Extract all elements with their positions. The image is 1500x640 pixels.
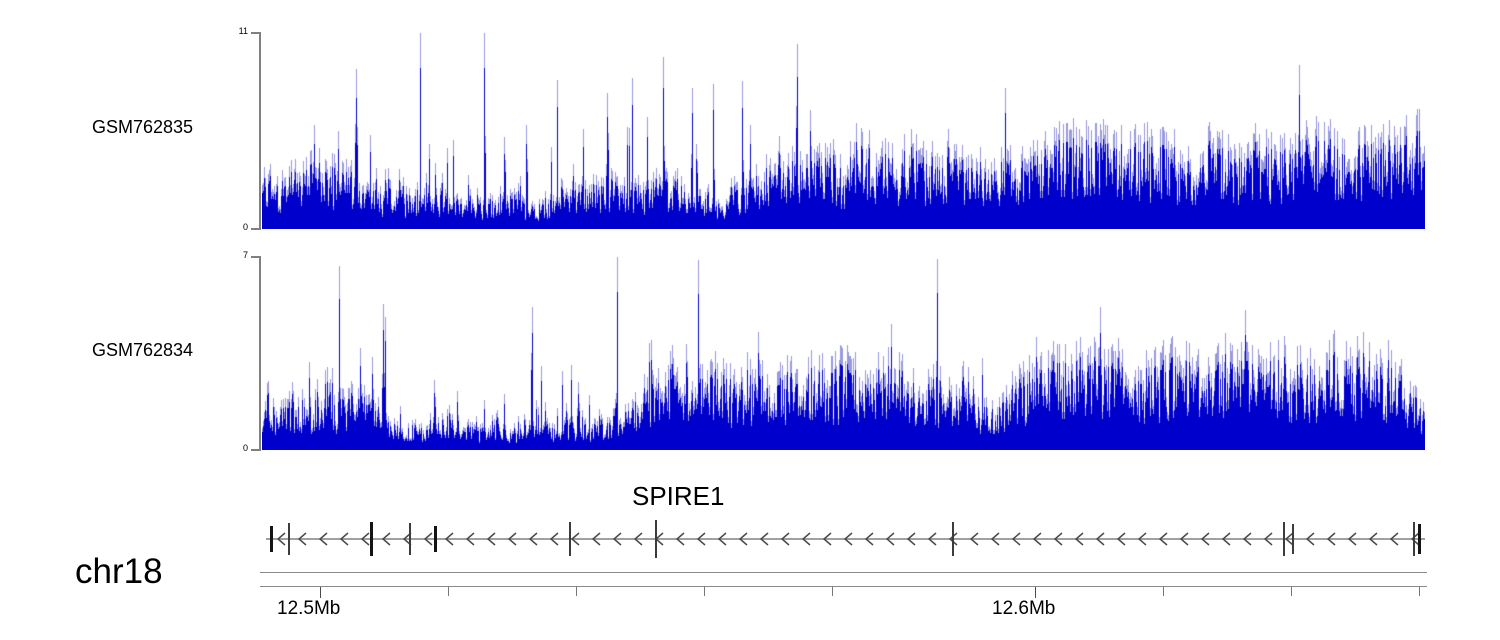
track-axis-tick-top-0 <box>251 32 260 34</box>
ruler-top-line <box>260 572 1427 573</box>
track-axis-line-1 <box>259 256 261 451</box>
gene-exon-bar[interactable] <box>1418 524 1421 554</box>
ruler-baseline <box>260 586 1427 587</box>
gene-model-track[interactable] <box>0 505 1500 575</box>
ruler-coordinate-label: 12.6Mb <box>992 598 1055 620</box>
ruler-tick <box>704 587 705 596</box>
coverage-canvas-0[interactable] <box>262 32 1425 229</box>
ruler-tick <box>320 587 321 598</box>
gene-exon-bar[interactable] <box>1292 524 1294 554</box>
gene-exon-bar[interactable] <box>952 522 954 556</box>
ruler-tick <box>1291 587 1292 596</box>
gene-exon-bar[interactable] <box>655 520 657 558</box>
gene-exon-bar[interactable] <box>434 526 437 552</box>
track-label-1: GSM762834 <box>92 340 193 361</box>
track-axis-max-0: 11 <box>222 26 248 36</box>
gene-exon-bar[interactable] <box>1283 522 1285 556</box>
track-axis-min-0: 0 <box>222 222 248 232</box>
track-axis-min-1: 0 <box>222 443 248 453</box>
gene-exon-bar[interactable] <box>569 522 571 556</box>
genome-browser-view: GSM762835 11 0 GSM762834 7 0 SPIRE1 12.5… <box>0 0 1500 640</box>
ruler-tick <box>1035 587 1036 598</box>
track-axis-tick-top-1 <box>251 256 260 258</box>
gene-exon-bar[interactable] <box>1413 522 1415 556</box>
ruler-tick <box>832 587 833 596</box>
ruler-tick <box>448 587 449 596</box>
track-axis-tick-bottom-0 <box>251 228 260 230</box>
gene-exon-bar[interactable] <box>409 523 411 555</box>
ruler-tick <box>1419 587 1420 596</box>
gene-exon-bar[interactable] <box>288 523 290 555</box>
coverage-plot-0[interactable] <box>262 32 1425 229</box>
ruler-tick <box>576 587 577 596</box>
ruler-coordinate-label: 12.5Mb <box>277 598 340 620</box>
track-axis-max-1: 7 <box>222 250 248 260</box>
ruler-tick <box>1163 587 1164 596</box>
track-axis-line-0 <box>259 32 261 230</box>
gene-exon-bar[interactable] <box>370 522 373 556</box>
track-axis-tick-bottom-1 <box>251 449 260 451</box>
coverage-canvas-1[interactable] <box>262 256 1425 450</box>
gene-exon-bar[interactable] <box>270 526 273 552</box>
track-label-0: GSM762835 <box>92 117 193 138</box>
coverage-plot-1[interactable] <box>262 256 1425 450</box>
chromosome-label: chr18 <box>75 552 163 592</box>
